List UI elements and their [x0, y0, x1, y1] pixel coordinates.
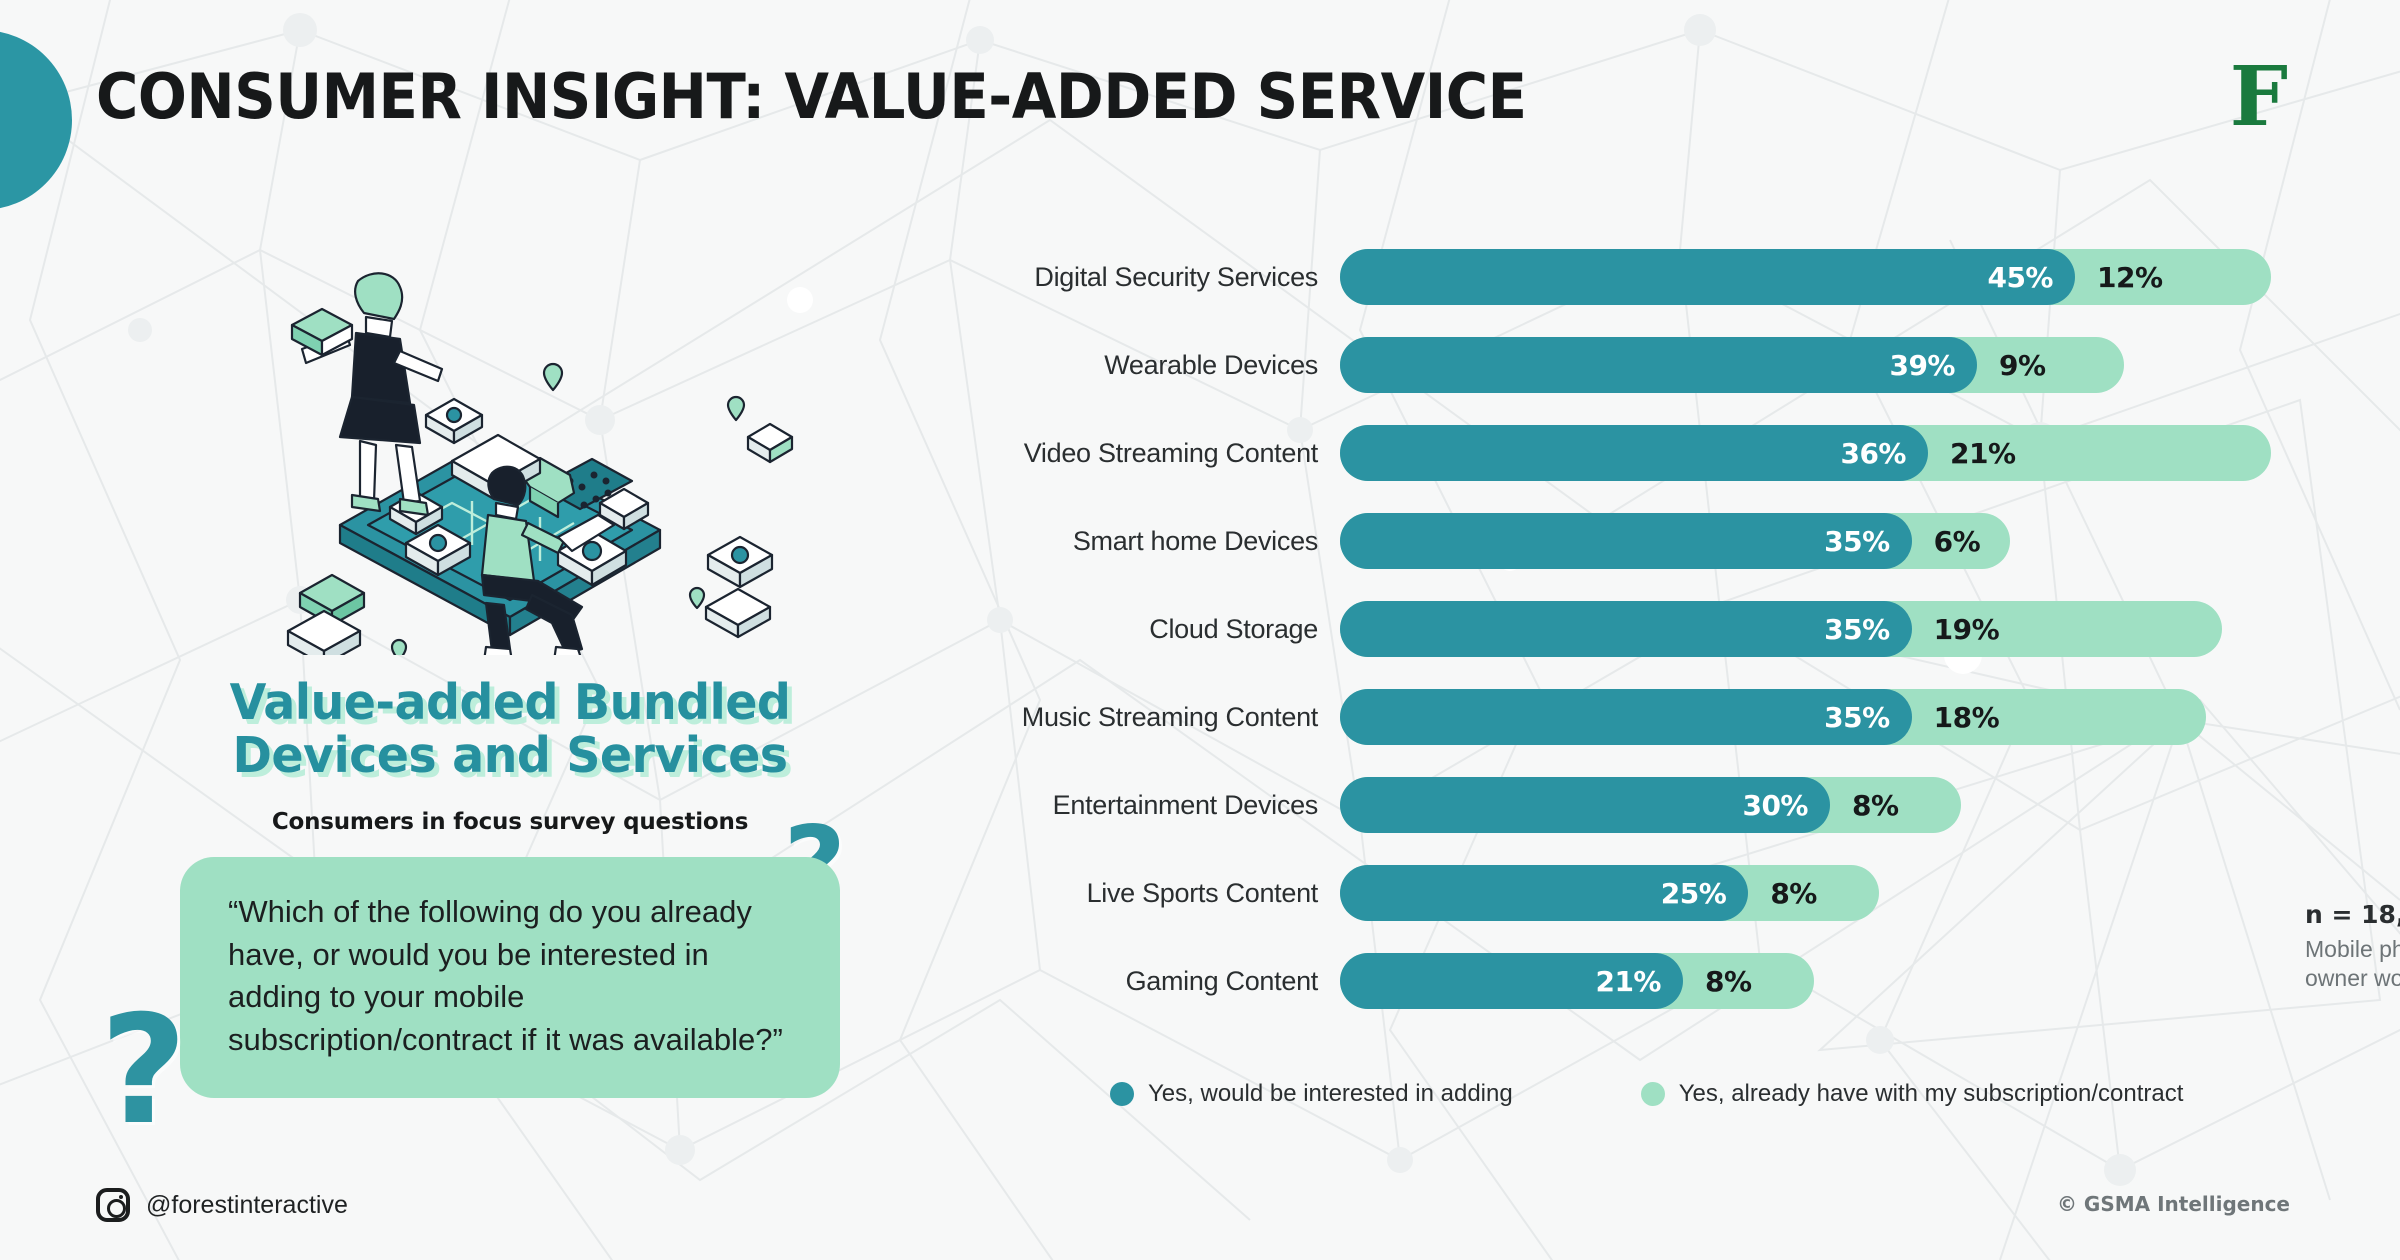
bar-value-secondary: 8% [1705, 953, 1752, 1009]
bar-segment-primary: 35% [1340, 689, 1912, 745]
bar-category-label: Entertainment Devices [980, 790, 1340, 821]
sample-size-value: n = 18,812 [2305, 900, 2400, 929]
bar-row: Video Streaming Content36%21% [980, 424, 2320, 482]
instagram-icon [96, 1188, 130, 1222]
bar-segment-primary: 30% [1340, 777, 1830, 833]
bar-row: Cloud Storage35%19% [980, 600, 2320, 658]
bar-row: Live Sports Content25%8% [980, 864, 2320, 922]
bar-segment-primary: 39% [1340, 337, 1977, 393]
bar-row: Gaming Content21%8% [980, 952, 2320, 1010]
legend-label-secondary: Yes, already have with my subscription/c… [1679, 1080, 2184, 1108]
bar-category-label: Music Streaming Content [980, 702, 1340, 733]
bar-segment-primary: 25% [1340, 865, 1748, 921]
bar-category-label: Gaming Content [980, 966, 1340, 997]
survey-question-text: “Which of the following do you already h… [228, 891, 792, 1062]
bar-segment-primary: 21% [1340, 953, 1683, 1009]
bar-category-label: Live Sports Content [980, 878, 1340, 909]
forest-interactive-logo: F [2230, 56, 2288, 138]
bar-segment-primary: 35% [1340, 601, 1912, 657]
question-mark-icon-bottom: ? [100, 996, 187, 1146]
chart-legend: Yes, would be interested in adding Yes, … [1110, 1080, 2183, 1108]
social-footer[interactable]: @forestinteractive [96, 1188, 348, 1222]
bar-value-secondary: 8% [1852, 777, 1899, 833]
bar-category-label: Wearable Devices [980, 350, 1340, 381]
bar-segment-primary: 35% [1340, 513, 1912, 569]
horizontal-bar-chart: Digital Security Services45%12%Wearable … [980, 248, 2320, 1040]
bar-track: 30%8% [1340, 777, 2320, 833]
bar-value-secondary: 12% [2097, 249, 2163, 305]
bar-value-primary: 45% [1987, 261, 2053, 294]
bar-track: 35%19% [1340, 601, 2320, 657]
bar-segment-primary: 36% [1340, 425, 1928, 481]
bar-row: Digital Security Services45%12% [980, 248, 2320, 306]
lede-headline-line-1: Value-added Bundled [74, 677, 947, 730]
bar-row: Wearable Devices39%9% [980, 336, 2320, 394]
bar-track: 35%18% [1340, 689, 2320, 745]
sample-size-note: n = 18,812 Mobile phone owner worldwide [2305, 900, 2400, 994]
legend-label-primary: Yes, would be interested in adding [1148, 1080, 1513, 1108]
bar-track: 35%6% [1340, 513, 2320, 569]
survey-question-bubble: “Which of the following do you already h… [180, 857, 840, 1098]
bar-track: 25%8% [1340, 865, 2320, 921]
legend-color-swatch-secondary [1641, 1082, 1665, 1106]
bar-row: Entertainment Devices30%8% [980, 776, 2320, 834]
bar-category-label: Smart home Devices [980, 526, 1340, 557]
illustration [60, 255, 960, 655]
bar-row: Music Streaming Content35%18% [980, 688, 2320, 746]
bar-value-secondary: 18% [1934, 689, 2000, 745]
left-panel: Value-added Bundled Devices and Services… [60, 255, 960, 1098]
social-handle: @forestinteractive [146, 1191, 348, 1220]
bar-value-secondary: 19% [1934, 601, 2000, 657]
bar-category-label: Video Streaming Content [980, 438, 1340, 469]
bar-track: 36%21% [1340, 425, 2320, 481]
bar-value-secondary: 8% [1770, 865, 1817, 921]
legend-color-swatch-primary [1110, 1082, 1134, 1106]
survey-question-block: ? “Which of the following do you already… [180, 857, 840, 1098]
bar-value-primary: 35% [1824, 613, 1890, 646]
bar-track: 21%8% [1340, 953, 2320, 1009]
isometric-smartphone-services-illustration [240, 255, 840, 655]
sample-description-line-2: owner worldwide [2305, 964, 2400, 993]
page-title: CONSUMER INSIGHT: VALUE-ADDED SERVICE [96, 64, 1526, 129]
sample-description: Mobile phone owner worldwide [2305, 935, 2400, 994]
header: CONSUMER INSIGHT: VALUE-ADDED SERVICE F [0, 64, 2400, 174]
bar-value-secondary: 21% [1950, 425, 2016, 481]
sample-description-line-1: Mobile phone [2305, 935, 2400, 964]
legend-item-interested[interactable]: Yes, would be interested in adding [1110, 1080, 1513, 1108]
bar-value-primary: 36% [1840, 437, 1906, 470]
legend-item-already-have[interactable]: Yes, already have with my subscription/c… [1641, 1080, 2184, 1108]
bar-track: 45%12% [1340, 249, 2320, 305]
infographic-page: CONSUMER INSIGHT: VALUE-ADDED SERVICE F [0, 0, 2400, 1260]
bar-row: Smart home Devices35%6% [980, 512, 2320, 570]
bar-value-primary: 39% [1889, 349, 1955, 382]
bar-value-secondary: 9% [1999, 337, 2046, 393]
bar-value-primary: 35% [1824, 525, 1890, 558]
bar-value-primary: 30% [1742, 789, 1808, 822]
bar-segment-primary: 45% [1340, 249, 2075, 305]
source-credit: © GSMA Intelligence [2057, 1192, 2290, 1216]
lede-headline: Value-added Bundled Devices and Services [74, 677, 947, 783]
bar-value-primary: 21% [1595, 965, 1661, 998]
bar-value-secondary: 6% [1934, 513, 1981, 569]
bar-track: 39%9% [1340, 337, 2320, 393]
bar-category-label: Cloud Storage [980, 614, 1340, 645]
bar-value-primary: 35% [1824, 701, 1890, 734]
bar-category-label: Digital Security Services [980, 262, 1340, 293]
bar-value-primary: 25% [1661, 877, 1727, 910]
lede-headline-line-2: Devices and Services [74, 730, 947, 783]
